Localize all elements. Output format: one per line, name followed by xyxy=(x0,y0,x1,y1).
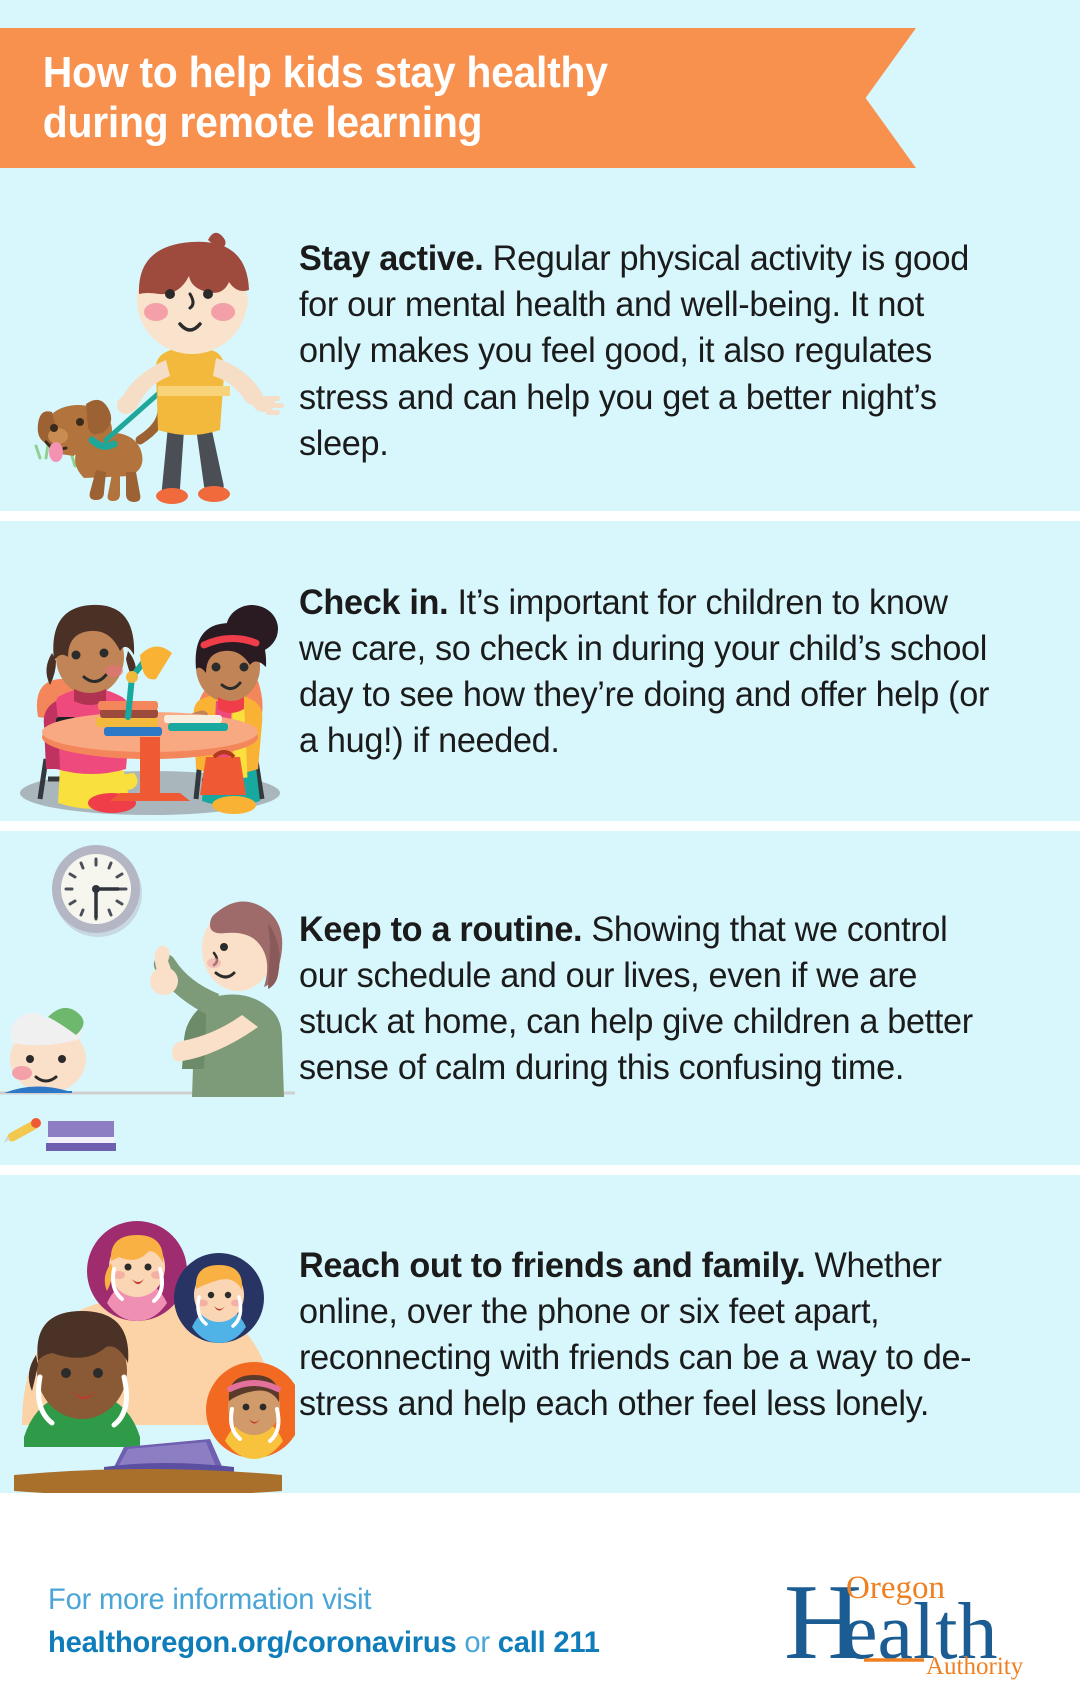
footer-prompt: For more information visit xyxy=(48,1583,600,1617)
tips-list: Stay active. Regular physical activity i… xyxy=(0,190,1080,1493)
section-divider xyxy=(0,511,1080,521)
two-girls-at-table-with-lamp-icon xyxy=(0,521,295,821)
tip-paragraph: Keep to a routine. Showing that we contr… xyxy=(299,906,993,1091)
tip-paragraph: Stay active. Regular physical activity i… xyxy=(299,235,993,466)
tip-section-reach-out: Reach out to friends and family. Whether… xyxy=(0,1175,1080,1493)
page-title-line-1: How to help kids stay healthy xyxy=(43,48,608,98)
svg-text:Oregon: Oregon xyxy=(846,1570,945,1606)
title-banner: How to help kids stay healthy during rem… xyxy=(0,28,916,168)
tip-text-keep-routine: Keep to a routine. Showing that we contr… xyxy=(295,906,1080,1091)
footer-contact-info: For more information visit healthoregon.… xyxy=(48,1583,617,1660)
footer-conjunction: or xyxy=(456,1626,497,1659)
tip-lead: Reach out to friends and family. xyxy=(299,1245,805,1285)
tip-text-stay-active: Stay active. Regular physical activity i… xyxy=(295,235,1080,466)
website-link[interactable]: healthoregon.org/coronavirus xyxy=(48,1626,456,1659)
page-title: How to help kids stay healthy during rem… xyxy=(0,48,608,148)
tip-section-check-in: Check in. It’s important for children to… xyxy=(0,521,1080,821)
section-divider xyxy=(0,1165,1080,1175)
footer: For more information visit healthoregon.… xyxy=(0,1542,1080,1700)
svg-text:Authority: Authority xyxy=(926,1653,1024,1680)
phone-link[interactable]: call 211 xyxy=(498,1626,600,1659)
footer-links: healthoregon.org/coronavirus or call 211 xyxy=(48,1626,600,1660)
page-title-line-2: during remote learning xyxy=(43,98,608,148)
tip-text-reach-out: Reach out to friends and family. Whether… xyxy=(295,1242,1080,1427)
illustration-boy-walking-dog xyxy=(0,190,295,511)
illustration-video-call xyxy=(0,1175,295,1493)
header-zone: How to help kids stay healthy during rem… xyxy=(0,0,1080,190)
oha-logo-icon: H ealth Oregon Authority xyxy=(786,1562,1036,1680)
tip-paragraph: Reach out to friends and family. Whether… xyxy=(299,1242,993,1427)
tip-paragraph: Check in. It’s important for children to… xyxy=(299,579,993,764)
clock-and-adult-pointing-icon xyxy=(0,831,295,1165)
boy-on-video-call-with-friends-icon xyxy=(0,1175,295,1493)
tip-lead: Stay active. xyxy=(299,238,483,278)
tip-lead: Check in. xyxy=(299,582,448,622)
section-divider xyxy=(0,821,1080,831)
illustration-clock-and-adult xyxy=(0,831,295,1165)
tip-section-stay-active: Stay active. Regular physical activity i… xyxy=(0,190,1080,511)
infographic-page: How to help kids stay healthy during rem… xyxy=(0,0,1080,1700)
tip-lead: Keep to a routine. xyxy=(299,909,582,949)
tip-text-check-in: Check in. It’s important for children to… xyxy=(295,579,1080,764)
tip-section-keep-routine: Keep to a routine. Showing that we contr… xyxy=(0,831,1080,1165)
oregon-health-authority-logo: H ealth Oregon Authority xyxy=(786,1562,1036,1680)
illustration-two-girls-at-table xyxy=(0,521,295,821)
boy-walking-dog-icon xyxy=(0,190,295,511)
